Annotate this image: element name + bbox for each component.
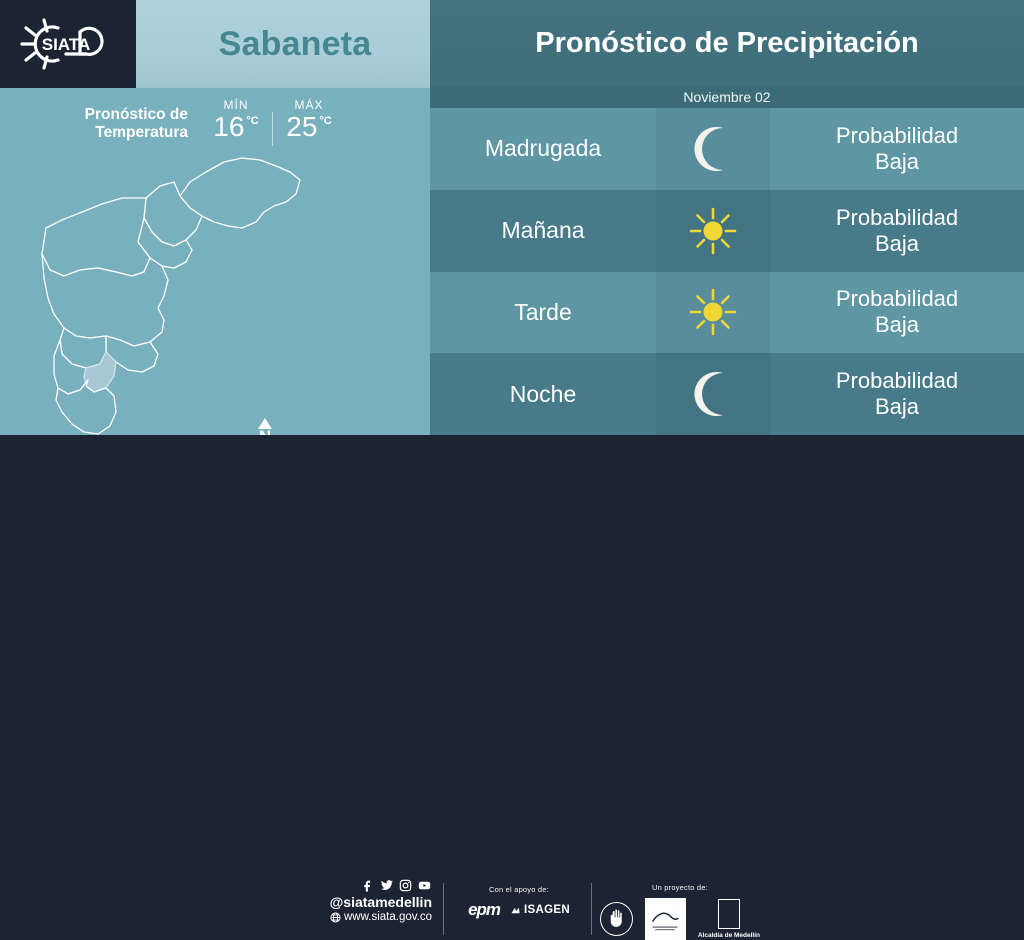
social-handle[interactable]: @siatamedellin — [312, 894, 432, 910]
project-caption: Un proyecto de: — [600, 883, 760, 892]
probability-line1: Probabilidad — [836, 286, 958, 312]
forecast-row: Tarde ProbabilidadBaja — [430, 272, 1024, 354]
temperature-min-unit: °C — [246, 115, 258, 127]
sun-icon — [688, 206, 738, 256]
forecast-date-bar: Noviembre 02 — [430, 86, 1024, 108]
map-region-bello — [42, 198, 150, 276]
temperature-max: MÁX 25 °C — [273, 98, 345, 142]
footer-divider-1 — [443, 883, 444, 935]
instagram-icon[interactable] — [399, 879, 412, 892]
forecast-table: Madrugada ProbabilidadBajaMañana Probabi… — [430, 108, 1024, 435]
social-icons — [312, 879, 432, 892]
udea-hand-icon — [607, 908, 627, 930]
social-block: @siatamedellin www.siata.gov.co — [312, 879, 432, 924]
probability-line2: Baja — [875, 394, 919, 420]
left-panel: SIATA Sabaneta Pronóstico de Temperatura… — [0, 0, 430, 435]
forecast-panel: Pronóstico de Precipitación Noviembre 02… — [430, 0, 1024, 435]
support-caption: Con el apoyo de: — [459, 885, 579, 894]
temperature-max-caption: MÁX — [273, 98, 345, 112]
sun-icon — [688, 287, 738, 337]
epm-logo: epm — [468, 900, 500, 920]
probability-line1: Probabilidad — [836, 123, 958, 149]
alcaldia-mark-icon — [718, 899, 740, 929]
forecast-icon-cell — [656, 190, 770, 272]
probability-line1: Probabilidad — [836, 205, 958, 231]
facebook-icon[interactable] — [362, 879, 375, 892]
temperature-min-value: 16 — [213, 112, 244, 142]
temperature-label-line2: Temperatura — [95, 124, 188, 141]
forecast-period: Mañana — [430, 190, 656, 272]
forecast-probability: ProbabilidadBaja — [770, 190, 1024, 272]
globe-icon — [330, 912, 341, 923]
youtube-icon[interactable] — [417, 879, 432, 892]
isagen-mark-icon — [510, 905, 522, 916]
forecast-icon-cell — [656, 108, 770, 190]
support-block: Con el apoyo de: epm ISAGEN — [459, 885, 579, 920]
forecast-header: Pronóstico de Precipitación — [430, 0, 1024, 86]
project-logos: Alcaldía de Medellín — [600, 898, 760, 940]
project-block: Un proyecto de: Alcaldía de Med — [600, 883, 760, 940]
page-title: Sabaneta — [160, 0, 430, 88]
footer: @siatamedellin www.siata.gov.co Con el a… — [0, 435, 1024, 512]
aburra-valley-map: N — [28, 150, 358, 435]
alcaldia-logo: Alcaldía de Medellín — [698, 899, 760, 939]
temperature-min: MÍN 16 °C — [200, 98, 272, 142]
temperature-values: MÍN 16 °C MÁX 25 °C — [200, 98, 345, 146]
temperature-max-unit: °C — [319, 115, 331, 127]
alcaldia-label: Alcaldía de Medellín — [698, 932, 760, 939]
forecast-probability: ProbabilidadBaja — [770, 108, 1024, 190]
website-label: www.siata.gov.co — [344, 910, 432, 924]
support-logos: epm ISAGEN — [459, 900, 579, 920]
footer-divider-2 — [591, 883, 592, 935]
probability-line2: Baja — [875, 312, 919, 338]
forecast-probability: ProbabilidadBaja — [770, 353, 1024, 435]
amva-mark-icon — [647, 902, 683, 936]
probability-line2: Baja — [875, 149, 919, 175]
map-svg — [28, 150, 358, 435]
temperature-min-caption: MÍN — [200, 98, 272, 112]
forecast-icon-cell — [656, 272, 770, 354]
udea-logo — [600, 902, 633, 936]
forecast-row: Madrugada ProbabilidadBaja — [430, 108, 1024, 190]
forecast-title: Pronóstico de Precipitación — [535, 27, 919, 60]
forecast-row: Mañana ProbabilidadBaja — [430, 190, 1024, 272]
forecast-period: Tarde — [430, 272, 656, 354]
isagen-logo: ISAGEN — [510, 904, 570, 916]
badge-arrow-shape — [136, 0, 162, 88]
logo-text: SIATA — [42, 35, 90, 54]
temperature-label-line1: Pronóstico de — [85, 106, 188, 123]
area-metropolitana-logo — [645, 898, 686, 940]
twitter-icon[interactable] — [380, 879, 394, 892]
probability-line2: Baja — [875, 231, 919, 257]
temperature-label: Pronóstico de Temperatura — [60, 98, 188, 142]
moon-icon — [691, 371, 735, 417]
title-band: SIATA Sabaneta — [0, 0, 430, 88]
probability-line1: Probabilidad — [836, 368, 958, 394]
website-row[interactable]: www.siata.gov.co — [312, 910, 432, 924]
forecast-icon-cell — [656, 353, 770, 435]
temperature-max-value: 25 — [286, 112, 317, 142]
forecast-date: Noviembre 02 — [683, 89, 770, 105]
siata-logo-badge: SIATA — [0, 0, 136, 88]
forecast-row: Noche ProbabilidadBaja — [430, 353, 1024, 435]
forecast-probability: ProbabilidadBaja — [770, 272, 1024, 354]
sun-cloud-icon: SIATA — [14, 14, 124, 74]
weather-forecast-card: SIATA Sabaneta Pronóstico de Temperatura… — [0, 0, 1024, 512]
forecast-period: Madrugada — [430, 108, 656, 190]
forecast-period: Noche — [430, 353, 656, 435]
moon-icon — [691, 126, 735, 172]
